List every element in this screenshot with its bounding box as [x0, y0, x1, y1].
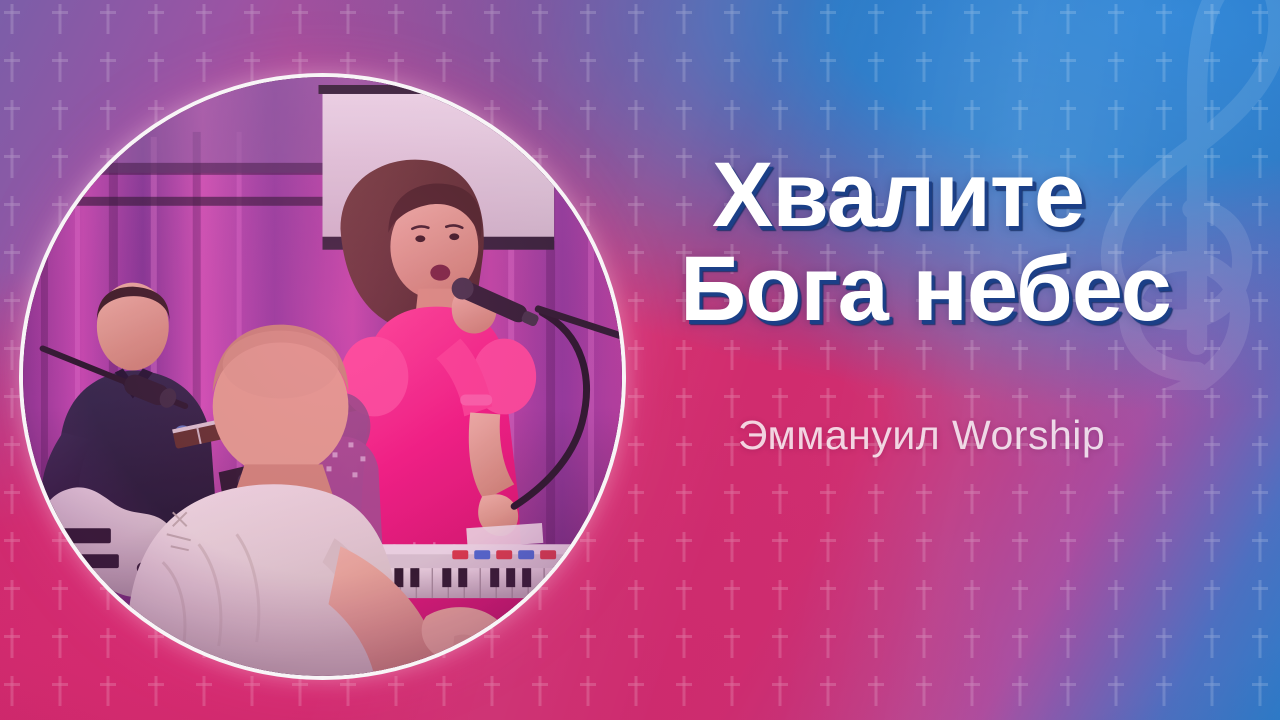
- channel-subtitle: Эммануил Worship: [676, 412, 1256, 459]
- band-photo: [23, 77, 622, 676]
- video-thumbnail: Хвалите Бога небес Эммануил Worship: [0, 0, 1280, 720]
- title-line-1: Хвалите: [676, 150, 1256, 240]
- title-line-2: Бога небес: [676, 244, 1256, 334]
- title-block: Хвалите Бога небес Эммануил Worship: [676, 150, 1256, 459]
- band-photo-circle: [19, 73, 626, 680]
